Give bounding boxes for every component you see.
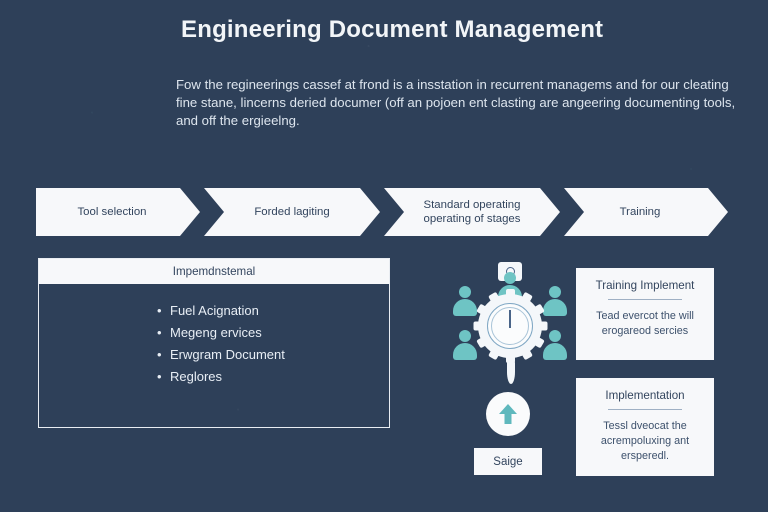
flow-step-1-label: Tool selection [77,205,146,219]
flow-step-3-label: Standard operating operating of stages [410,198,534,226]
list-item: Reglores [157,366,389,388]
list-item: Megeng ervices [157,322,389,344]
flow-step-1[interactable]: Tool selection [36,188,200,236]
person-avatar-icon [452,286,478,318]
flow-step-4[interactable]: Training [564,188,728,236]
info-card-title: Training Implement [586,279,704,292]
detail-panel: Impemdnstemal Fuel Acignation Megeng erv… [38,258,390,428]
list-item: Erwgram Document [157,344,389,366]
flow-step-3[interactable]: Standard operating operating of stages [384,188,560,236]
flow-step-2-label: Forded lagiting [254,205,329,219]
detail-panel-header: Impemdnstemal [39,259,389,284]
info-card-title: Implementation [586,389,704,402]
list-item: Fuel Acignation [157,300,389,322]
flow-step-4-label: Training [620,205,661,219]
intro-paragraph: Fow the regineerings cassef at frond is … [176,76,742,130]
page-title: Engineering Document Management [181,16,603,44]
divider [608,299,682,300]
info-card-text: Tessl dveocat the acrempoluxing ant ersp… [586,419,704,464]
person-avatar-icon [542,330,568,362]
flow-step-2[interactable]: Forded lagiting [204,188,380,236]
info-card-text: Tead evercot the will erogareod sercies [586,309,704,339]
pointer-stem-icon [507,360,515,384]
gear-clock-icon [478,294,542,358]
stage-tag[interactable]: Saige [474,448,542,475]
divider [608,409,682,410]
team-gear-illustration [444,264,576,384]
detail-panel-body: Fuel Acignation Megeng ervices Erwgram D… [39,284,389,388]
info-card-training[interactable]: Training Implement Tead evercot the will… [576,268,714,360]
info-card-implementation[interactable]: Implementation Tessl dveocat the acrempo… [576,378,714,476]
process-flow: Tool selection Forded lagiting Standard … [36,188,732,236]
person-avatar-icon [452,330,478,362]
arrow-up-icon[interactable] [486,392,530,436]
person-avatar-icon [542,286,568,318]
